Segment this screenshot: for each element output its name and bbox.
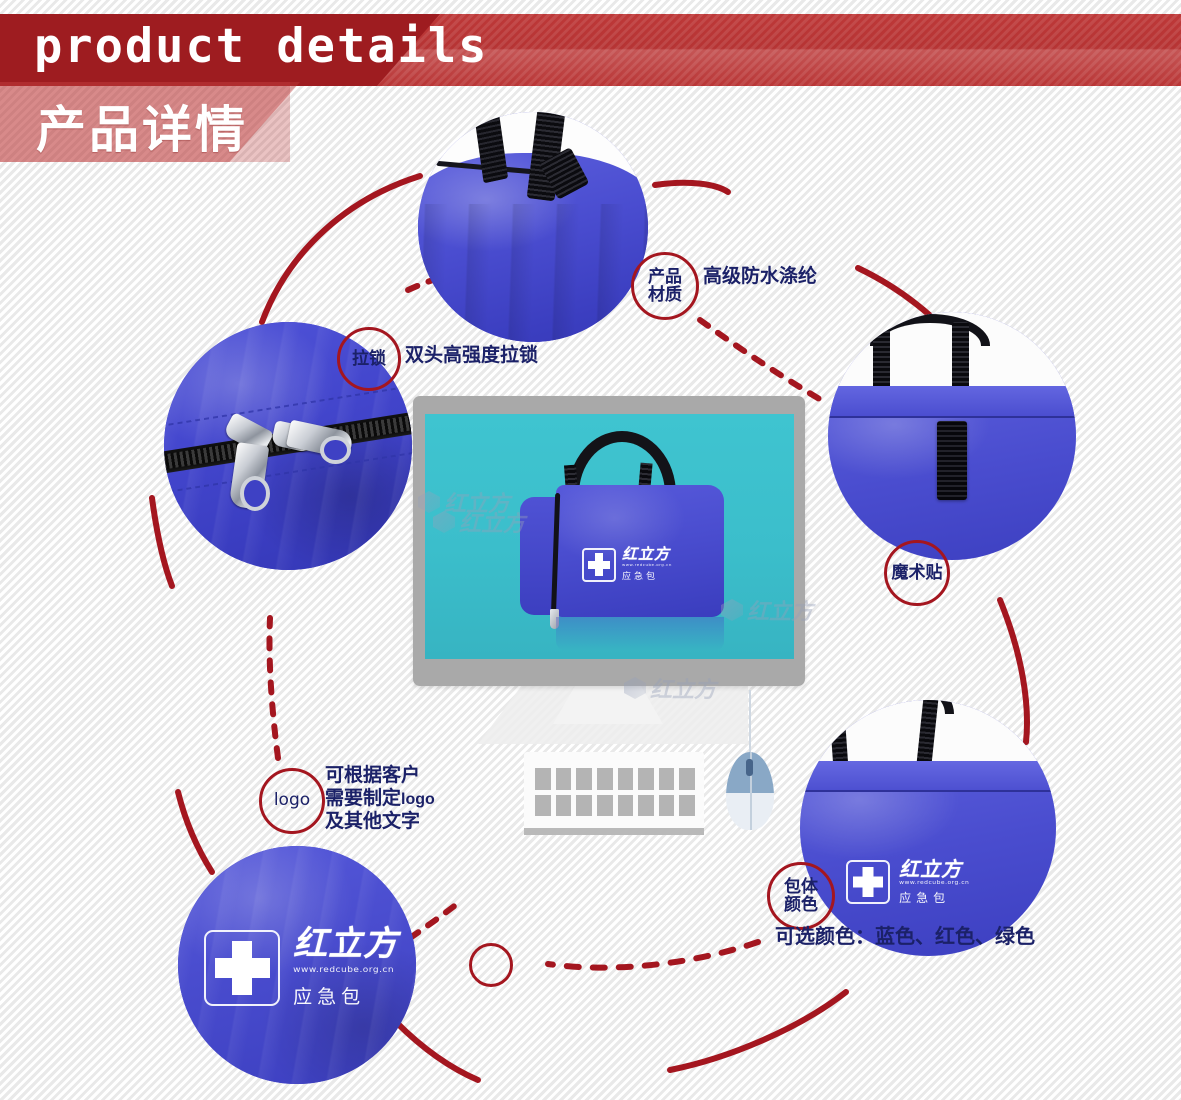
- photo-circle-color: 红立方 www.redcube.org.cn 应急包: [800, 700, 1056, 956]
- brand-cn: 应急包: [622, 569, 672, 582]
- callout-pill-zipper: 拉锁: [337, 327, 401, 391]
- callout-pill-color: 包体 颜色: [767, 862, 835, 930]
- bag-brandmark: 红立方 www.redcube.org.cn 应急包: [846, 859, 969, 906]
- callout-pill-logo: logo: [259, 768, 325, 834]
- callout-text-material: 高级防水涤纶: [703, 265, 817, 288]
- hero-brandmark: 红立方 www.redcube.org.cn 应急包: [582, 547, 672, 582]
- callout-text-zipper: 双头高强度拉锁: [405, 344, 538, 367]
- brand-cn: 应急包: [899, 889, 969, 906]
- keyboard-base: [524, 828, 704, 835]
- callout-pill-material-line1: 产品: [648, 267, 682, 286]
- keyboard-keys: [535, 768, 695, 816]
- photo-circle-material: [418, 112, 648, 342]
- callout-pill-color-line2: 颜色: [784, 895, 818, 914]
- hero-bag: 红立方 www.redcube.org.cn 应急包: [520, 469, 730, 624]
- brand-url: www.redcube.org.cn: [899, 879, 969, 885]
- callout-text-logo-line2-latin: logo: [401, 791, 435, 808]
- brand-cn: 应急包: [293, 982, 398, 1009]
- hero-bag-reflection: [556, 617, 724, 651]
- mouse-cord: [749, 690, 751, 756]
- callout-text-logo: 可根据客户 需要制定logo 及其他文字: [325, 764, 435, 834]
- callout-pill-color-line1: 包体: [784, 877, 818, 896]
- brand-script: 红立方: [899, 859, 969, 879]
- first-aid-cross-icon: [204, 930, 280, 1006]
- brand-script: 红立方: [293, 927, 398, 961]
- brand-script: 红立方: [622, 547, 672, 562]
- callout-pill-velcro-label: 魔术贴: [892, 564, 943, 582]
- mouse: [726, 752, 774, 830]
- first-aid-cross-icon: [582, 548, 616, 582]
- monitor-screen: 红立方 www.redcube.org.cn 应急包 红立方 红立方: [425, 414, 794, 659]
- first-aid-cross-icon: [846, 860, 890, 904]
- callout-pill-logo-label: logo: [274, 792, 310, 810]
- photo-circle-velcro: [828, 312, 1076, 560]
- callout-text-logo-line3: 及其他文字: [325, 811, 420, 832]
- infographic-canvas: product details 产品详情: [0, 0, 1181, 1100]
- decorative-ring: [469, 943, 513, 987]
- callout-text-logo-line2: 需要制定: [325, 788, 401, 809]
- callout-text-color: 可选颜色：蓝色、红色、绿色: [775, 925, 1035, 949]
- callout-pill-material-line2: 材质: [648, 285, 682, 304]
- brand-url: www.redcube.org.cn: [622, 562, 672, 567]
- watermark: 红立方: [433, 506, 525, 538]
- callout-pill-material: 产品 材质: [631, 252, 699, 320]
- brand-url: www.redcube.org.cn: [293, 965, 398, 974]
- bag-brandmark-large: 红立方 www.redcube.org.cn 应急包: [204, 927, 398, 1009]
- photo-circle-logo: 红立方 www.redcube.org.cn 应急包: [178, 846, 416, 1084]
- callout-pill-velcro: 魔术贴: [884, 540, 950, 606]
- callout-text-logo-line1: 可根据客户: [325, 765, 420, 786]
- watermark-cube-icon: [433, 511, 455, 533]
- callout-pill-zipper-label: 拉锁: [352, 350, 386, 368]
